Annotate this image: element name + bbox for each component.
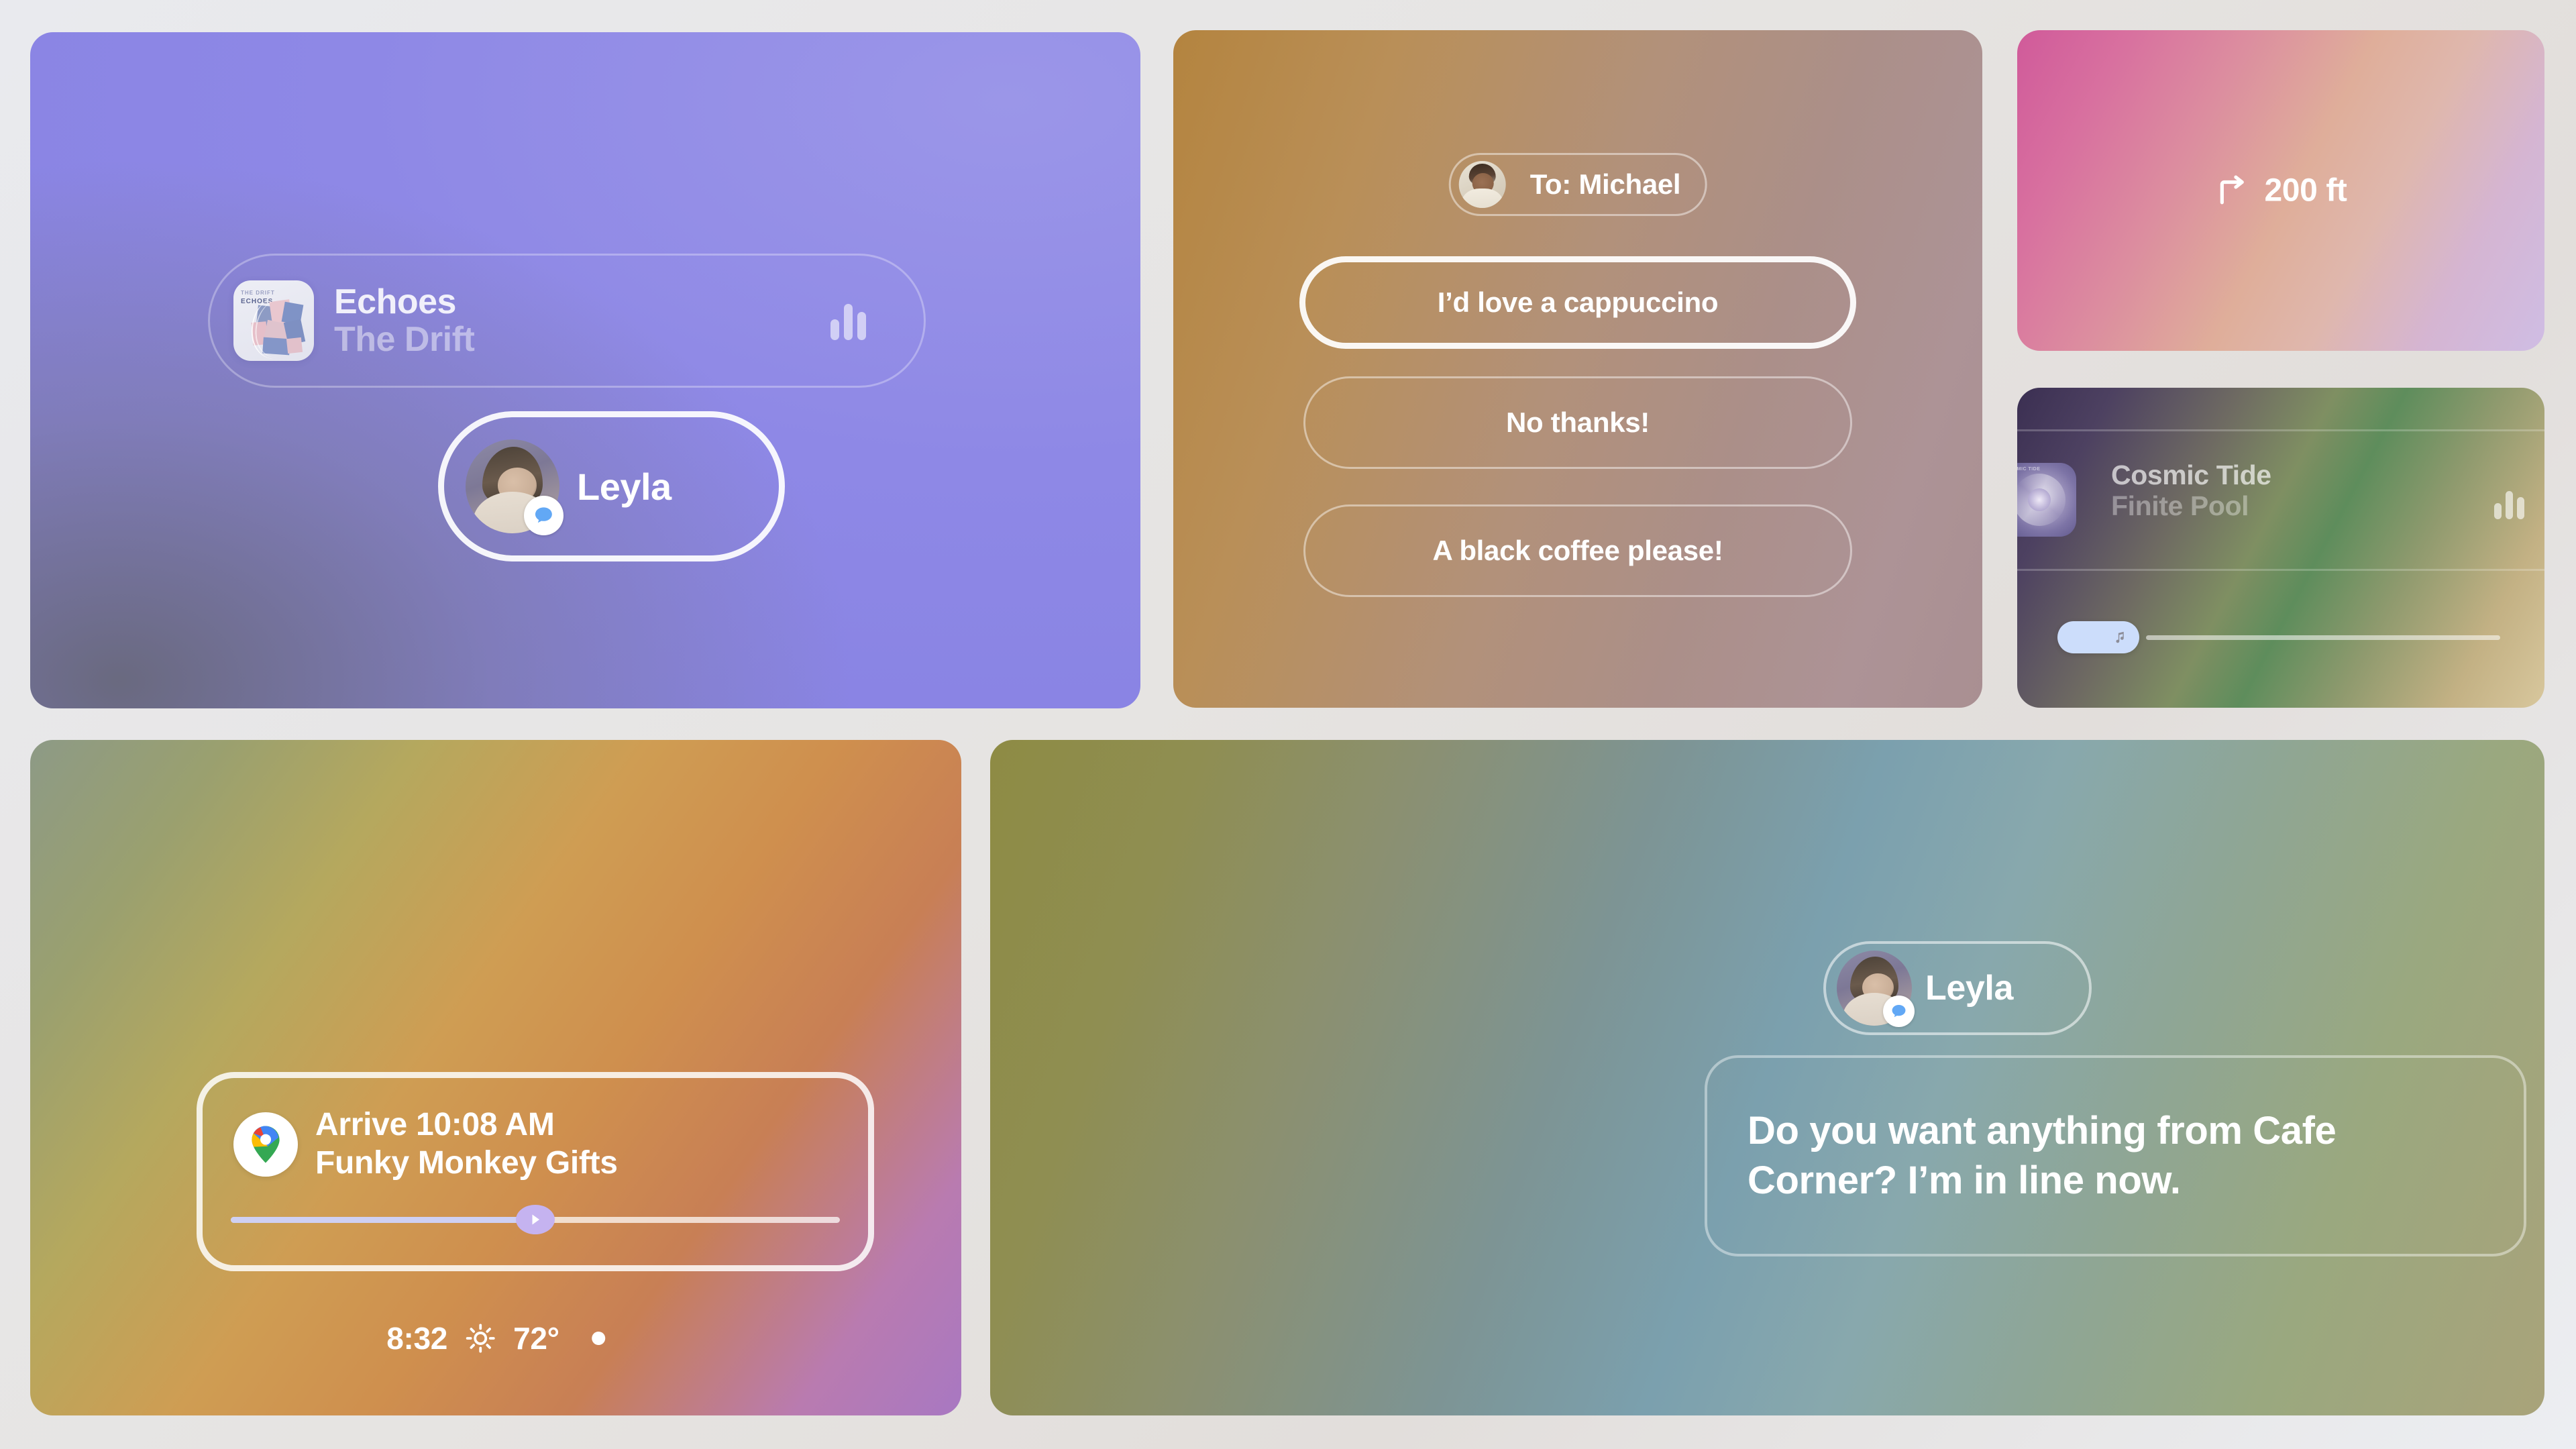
navigation-instruction: 200 ft xyxy=(2215,172,2347,209)
navigation-arrive-card[interactable]: Arrive 10:08 AM Funky Monkey Gifts 8:32 xyxy=(30,740,961,1415)
reply-option[interactable]: No thanks! xyxy=(1303,376,1852,469)
album-art-icon: THE DRIFT ECHOES xyxy=(233,280,314,361)
track-artist: The Drift xyxy=(334,321,474,358)
widget-board: THE DRIFT ECHOES Echoes The Drift xyxy=(0,0,2576,1449)
cosmic-track-title: Cosmic Tide xyxy=(2111,460,2271,491)
arrive-text: Arrive 10:08 AM Funky Monkey Gifts xyxy=(315,1106,618,1182)
sender-pill[interactable]: Leyla xyxy=(1823,941,2092,1035)
recipient-pill[interactable]: To: Michael xyxy=(1449,153,1707,216)
cosmic-text: Cosmic Tide Finite Pool xyxy=(2111,460,2271,522)
sun-icon xyxy=(465,1323,496,1354)
progress-fill xyxy=(231,1217,535,1223)
reply-options-card[interactable]: To: Michael I’d love a cappuccino No tha… xyxy=(1173,30,1982,708)
progress-thumb[interactable] xyxy=(516,1205,555,1234)
recipient-label-text: To: Michael xyxy=(1530,168,1681,201)
reply-option-label: A black coffee please! xyxy=(1432,535,1723,567)
slider-thumb[interactable] xyxy=(2057,621,2139,653)
google-maps-pin-icon xyxy=(233,1112,298,1177)
message-card[interactable]: Leyla Do you want anything from Cafe Cor… xyxy=(990,740,2544,1415)
cosmic-album-art-icon: COSMIC TIDE xyxy=(2017,463,2076,537)
arrival-time-label: Arrive 10:08 AM xyxy=(315,1106,618,1144)
divider xyxy=(2017,429,2544,431)
message-body: Do you want anything from Cafe Corner? I… xyxy=(1748,1106,2483,1205)
reply-option-label: I’d love a cappuccino xyxy=(1438,286,1718,319)
arrive-header: Arrive 10:08 AM Funky Monkey Gifts xyxy=(203,1078,868,1182)
contact-pill-leyla[interactable]: Leyla xyxy=(438,411,785,561)
cosmic-track-artist: Finite Pool xyxy=(2111,491,2271,522)
status-row: 8:32 72° xyxy=(386,1320,605,1356)
route-progress-slider[interactable] xyxy=(231,1205,840,1234)
turn-right-icon xyxy=(2215,173,2250,208)
contact-name: Leyla xyxy=(577,465,672,508)
avatar xyxy=(1837,951,1912,1026)
equalizer-icon xyxy=(2494,490,2524,519)
music-note-icon xyxy=(2114,628,2129,647)
reply-option[interactable]: A black coffee please! xyxy=(1303,504,1852,597)
reply-option-selected[interactable]: I’d love a cappuccino xyxy=(1299,256,1856,349)
cosmic-slider[interactable] xyxy=(2057,621,2531,653)
distance-label: 200 ft xyxy=(2265,172,2347,209)
messages-badge-icon xyxy=(1883,996,1915,1027)
michael-avatar xyxy=(1459,161,1506,208)
divider xyxy=(2017,569,2544,571)
sender-name: Leyla xyxy=(1925,968,2013,1008)
navigation-distance-card[interactable]: 200 ft xyxy=(2017,30,2544,351)
arrive-pill[interactable]: Arrive 10:08 AM Funky Monkey Gifts xyxy=(197,1072,874,1271)
cosmic-tide-card[interactable]: COSMIC TIDE Cosmic Tide Finite Pool xyxy=(2017,388,2544,708)
now-playing-card[interactable]: THE DRIFT ECHOES Echoes The Drift xyxy=(30,32,1140,708)
now-playing-text: Echoes The Drift xyxy=(334,283,474,358)
avatar xyxy=(466,439,559,533)
messages-badge-icon xyxy=(524,496,563,535)
cosmic-album-art-label: COSMIC TIDE xyxy=(2017,467,2040,472)
album-art-label-top: THE DRIFT xyxy=(241,290,275,296)
message-bubble[interactable]: Do you want anything from Cafe Corner? I… xyxy=(1705,1055,2526,1256)
equalizer-icon xyxy=(830,301,866,340)
clock-label: 8:32 xyxy=(386,1320,447,1356)
now-playing-pill[interactable]: THE DRIFT ECHOES Echoes The Drift xyxy=(208,254,926,388)
recording-dot-icon xyxy=(592,1332,605,1345)
track-title: Echoes xyxy=(334,283,474,321)
reply-option-label: No thanks! xyxy=(1506,407,1650,439)
temperature-label: 72° xyxy=(513,1320,559,1356)
destination-label: Funky Monkey Gifts xyxy=(315,1144,618,1183)
navigation-arrow-icon xyxy=(527,1212,543,1228)
slider-track[interactable] xyxy=(2146,635,2500,640)
